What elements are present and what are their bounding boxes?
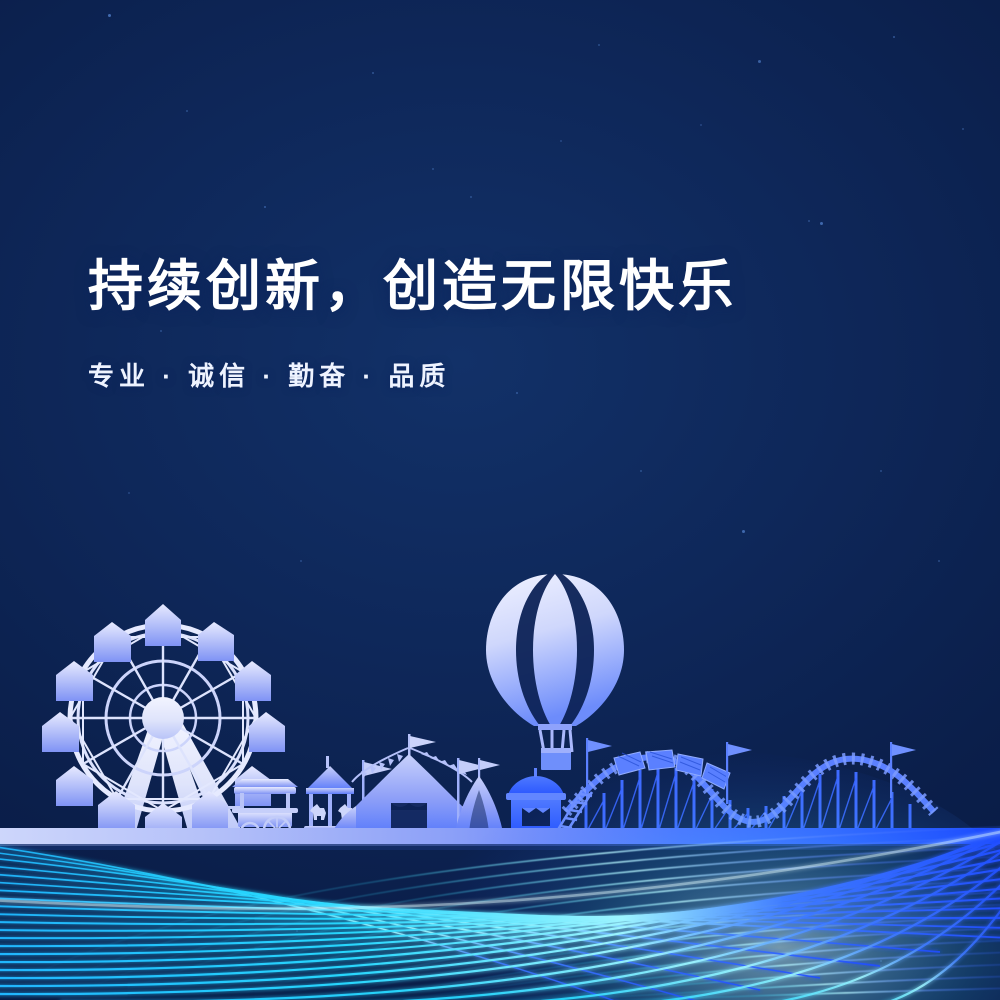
neon-wave-mesh xyxy=(0,0,1000,1000)
headline-block: 持续创新，创造无限快乐 专业 · 诚信 · 勤奋 · 品质 xyxy=(88,258,737,393)
page-title: 持续创新，创造无限快乐 xyxy=(88,258,737,316)
page-subtitle: 专业 · 诚信 · 勤奋 · 品质 xyxy=(88,316,737,393)
poster-canvas: 持续创新，创造无限快乐 专业 · 诚信 · 勤奋 · 品质 xyxy=(0,0,1000,1000)
